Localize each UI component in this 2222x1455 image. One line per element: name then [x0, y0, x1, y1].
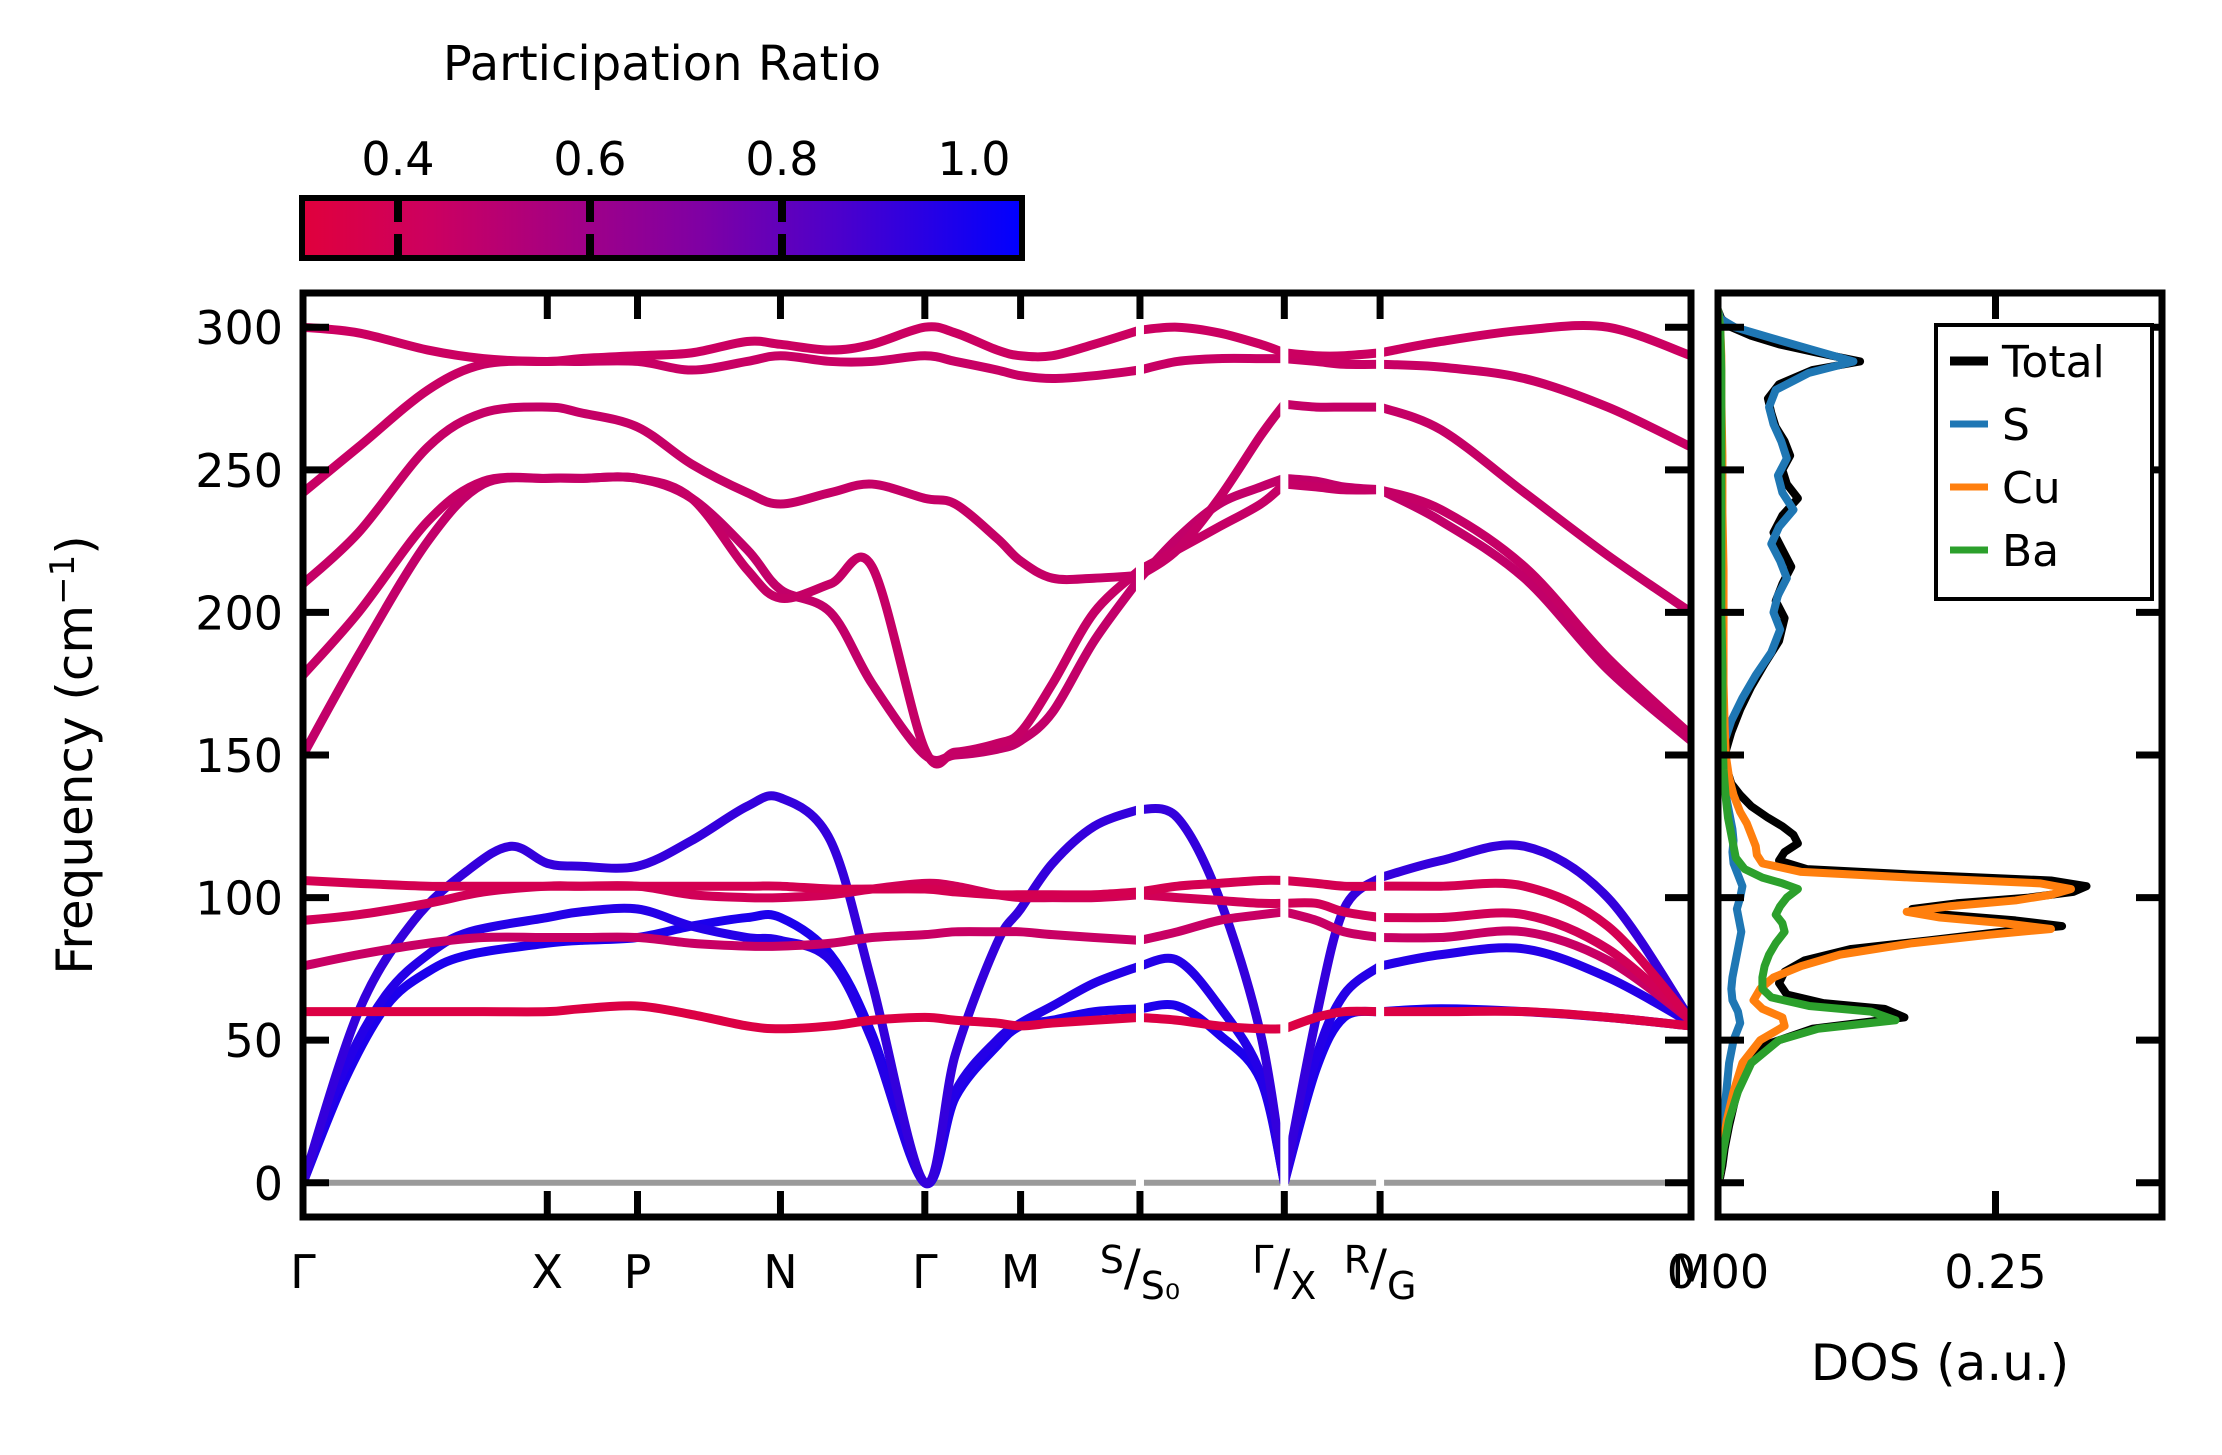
band-y-tick-label: 0 — [254, 1157, 283, 1211]
band-x-tick-label: N — [763, 1245, 797, 1299]
frac-numerator: R — [1344, 1238, 1370, 1282]
band-y-tick-label: 100 — [195, 872, 283, 926]
colorbar-title: Participation Ratio — [443, 36, 881, 92]
phonon-band-dos-figure: Participation Ratio 0.40.60.81.0 0501001… — [0, 0, 2222, 1455]
frac-slash: / — [1273, 1239, 1290, 1297]
band-x-tick-label: Γ — [290, 1245, 316, 1299]
colorbar-tick-label: 0.8 — [745, 132, 818, 186]
band-curve — [1284, 404, 1380, 407]
band-plot-area[interactable] — [303, 293, 1691, 1217]
band-x-tick-label: Γ — [912, 1245, 938, 1299]
band-curve — [1284, 353, 1380, 356]
band-segment-gap — [1376, 297, 1384, 1213]
frac-numerator: S — [1100, 1238, 1124, 1282]
frac-slash: / — [1124, 1239, 1141, 1297]
figure-root: Participation Ratio 0.40.60.81.0 0501001… — [0, 0, 2222, 1455]
band-x-tick-label: P — [624, 1245, 652, 1299]
legend-label-total: Total — [2001, 337, 2105, 388]
dos-x-axis-label: DOS (a.u.) — [1811, 1334, 2070, 1392]
frac-denominator: S₀ — [1141, 1264, 1180, 1308]
band-x-tick-label: X — [532, 1245, 564, 1299]
legend-label-cu: Cu — [2002, 463, 2061, 514]
band-y-tick-label: 200 — [195, 586, 283, 640]
colorbar-tick-label: 0.6 — [553, 132, 626, 186]
frac-slash: / — [1370, 1239, 1387, 1297]
frac-numerator: Γ — [1252, 1238, 1273, 1282]
colorbar-tick-label: 1.0 — [937, 132, 1010, 186]
legend-label-s: S — [2002, 400, 2030, 451]
band-segment-gap — [1280, 297, 1288, 1213]
band-y-tick-label: 50 — [224, 1014, 283, 1068]
colorbar-tick-label: 0.4 — [361, 132, 434, 186]
colorbar-gradient[interactable] — [302, 198, 1022, 258]
band-y-tick-label: 250 — [195, 444, 283, 498]
legend-label-ba: Ba — [2002, 526, 2059, 577]
ylabel-main: Frequency (cm — [46, 605, 104, 975]
band-y-tick-label: 300 — [195, 301, 283, 355]
dos-x-tick-label: 0.00 — [1667, 1245, 1769, 1299]
band-x-tick-label: M — [1001, 1245, 1041, 1299]
frac-denominator: X — [1290, 1264, 1316, 1308]
dos-x-tick-label: 0.25 — [1944, 1245, 2046, 1299]
ylabel-superscript: −1 — [43, 555, 83, 605]
frac-denominator: G — [1387, 1264, 1416, 1308]
band-segment-gap — [1136, 297, 1144, 1213]
band-y-tick-label: 150 — [195, 729, 283, 783]
dos-legend[interactable]: TotalSCuBa — [1936, 325, 2152, 599]
ylabel-tail: ) — [46, 535, 104, 555]
